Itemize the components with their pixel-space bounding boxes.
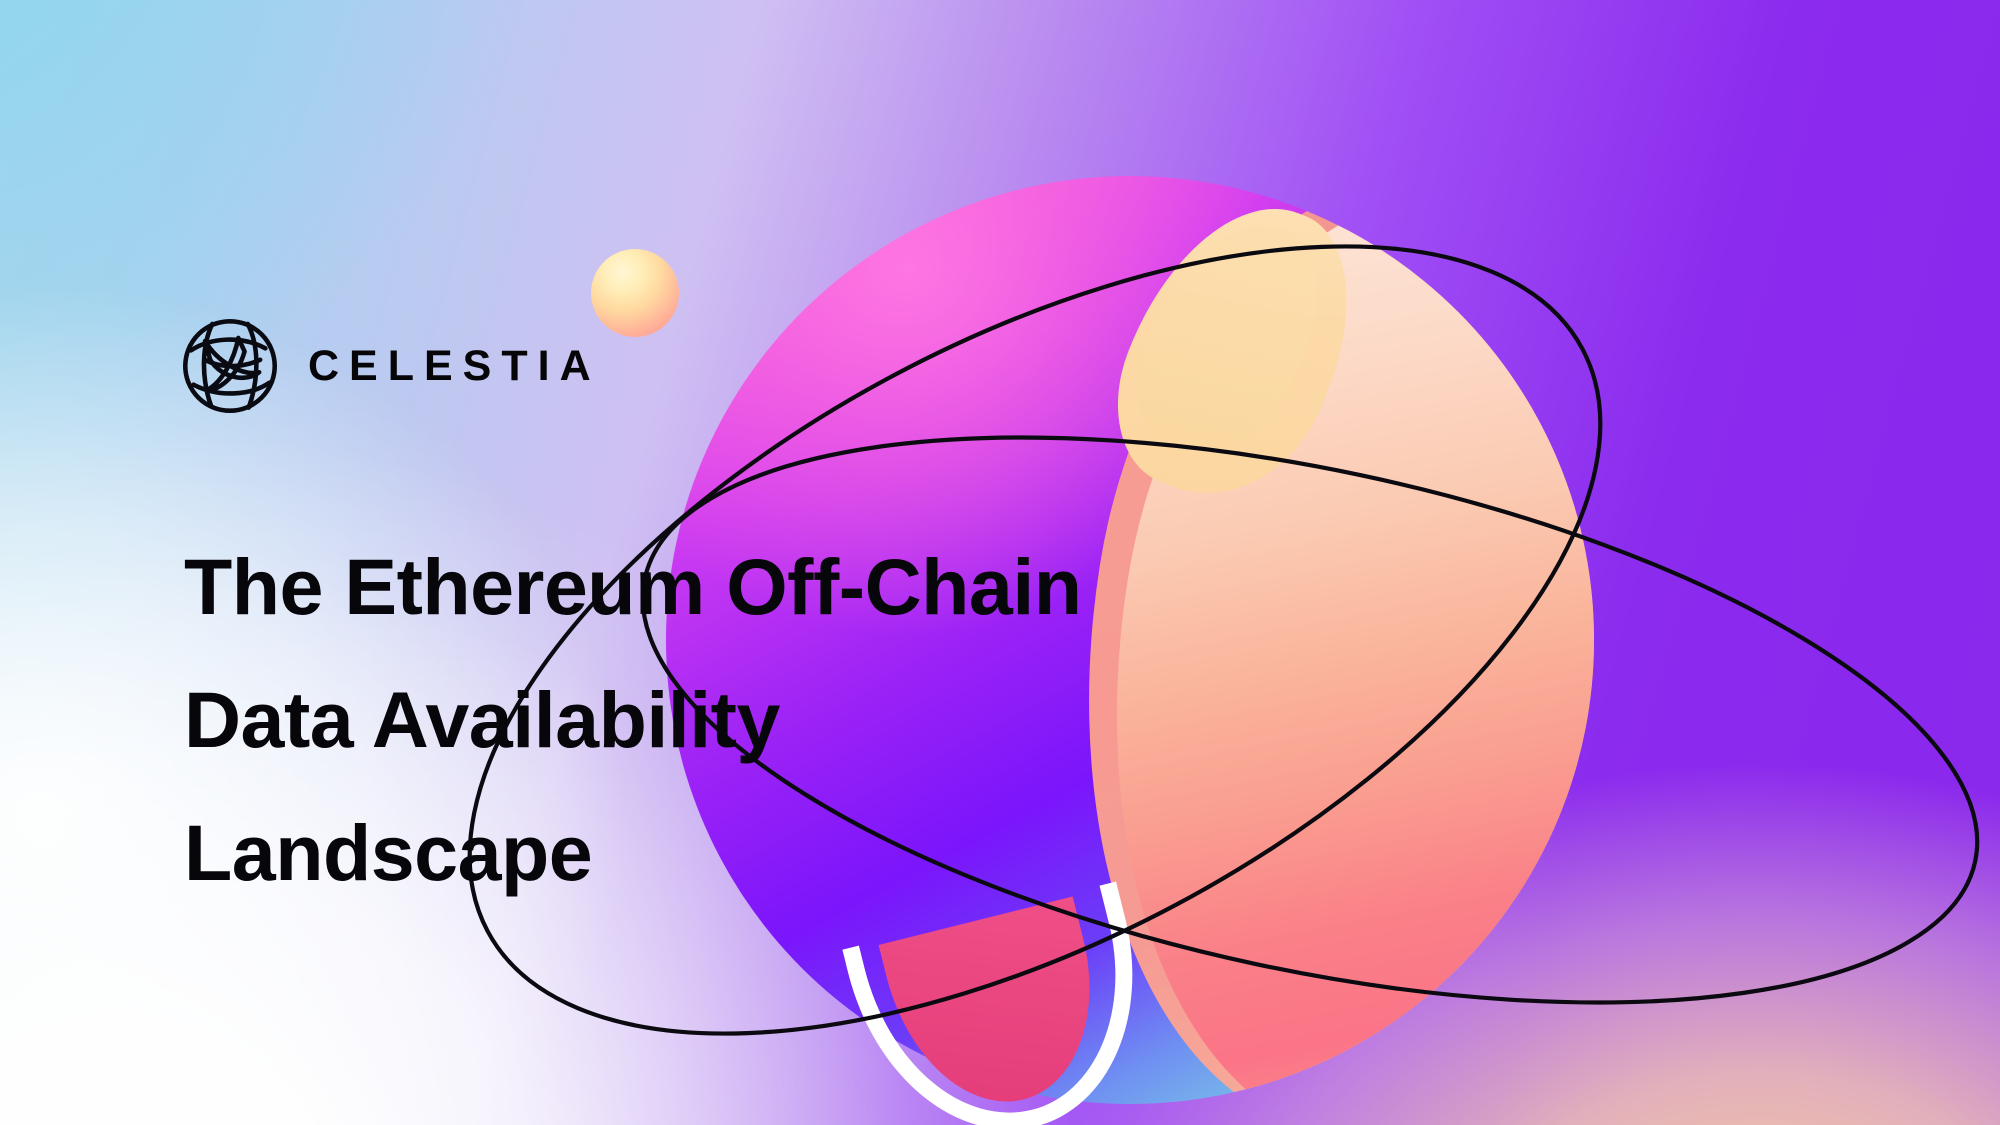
- cover-graphic: CELESTIA The Ethereum Off-Chain Data Ava…: [0, 0, 2000, 1125]
- page-title: The Ethereum Off-Chain Data Availability…: [184, 520, 1304, 919]
- headline-line-2: Data Availability: [184, 653, 1304, 786]
- celestia-sphere-mesh-icon: [178, 314, 282, 418]
- headline-line-3: Landscape: [184, 786, 1304, 919]
- celestia-wordmark: CELESTIA: [308, 345, 601, 388]
- headline-line-1: The Ethereum Off-Chain: [184, 520, 1304, 653]
- celestia-logo[interactable]: CELESTIA: [178, 314, 601, 418]
